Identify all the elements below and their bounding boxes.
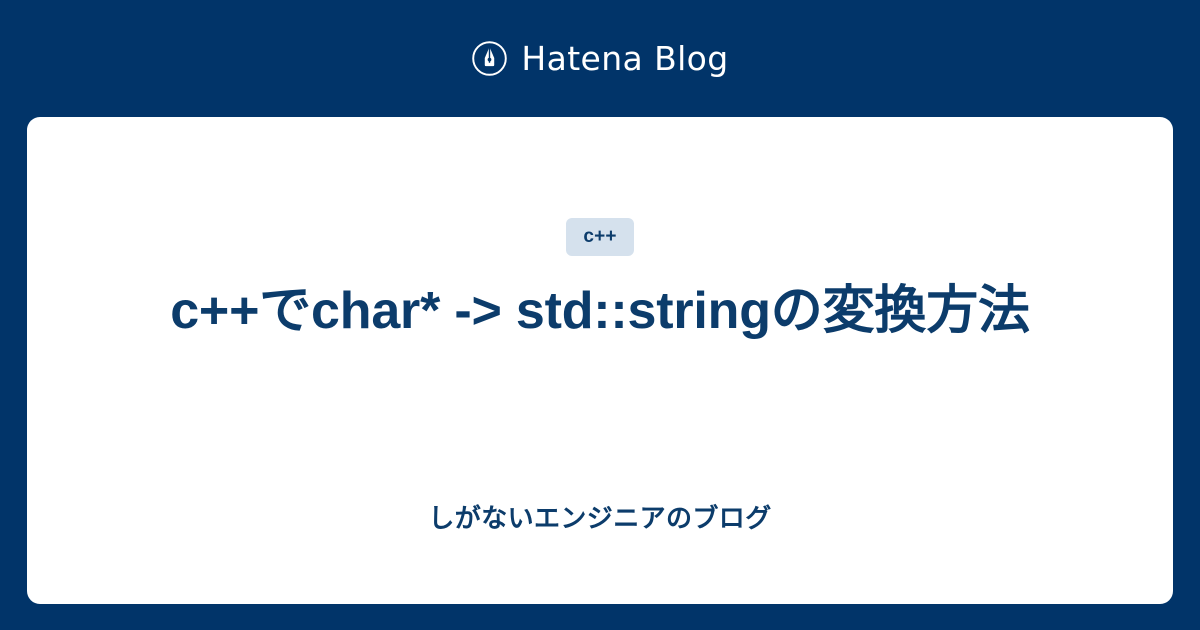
entry-card-content: c++ c++でchar* -> std::stringの変換方法 (27, 117, 1173, 502)
fountain-pen-nib-in-circle-icon (471, 40, 508, 77)
tag-list: c++ (566, 218, 633, 256)
tag-badge-cpp[interactable]: c++ (566, 218, 633, 256)
entry-title: c++でchar* -> std::stringの変換方法 (170, 278, 1030, 344)
service-name-label: Hatena Blog (521, 42, 728, 75)
blog-title: しがないエンジニアのブログ (428, 502, 771, 604)
hatena-blog-logo (471, 40, 508, 77)
ogp-card-page: Hatena Blog c++ c++でchar* -> std::string… (0, 0, 1200, 630)
site-header: Hatena Blog (0, 0, 1200, 117)
entry-card: c++ c++でchar* -> std::stringの変換方法 しがないエン… (27, 117, 1173, 604)
